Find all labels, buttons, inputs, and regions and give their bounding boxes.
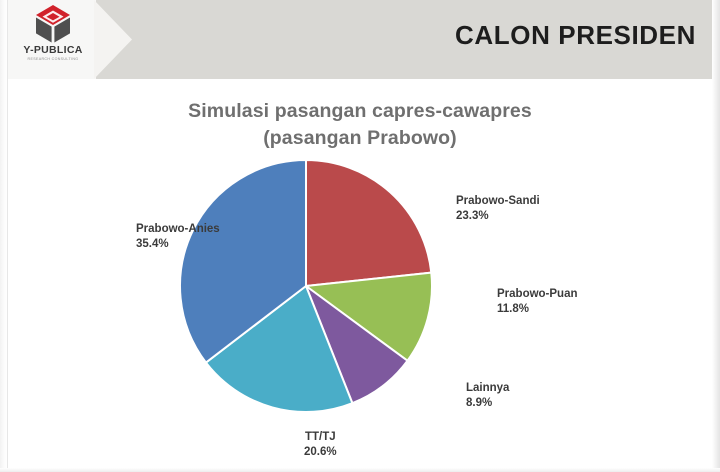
y-publica-logo: Y-PUBLICA RESEARCH CONSULTING xyxy=(16,4,90,76)
slide-canvas: Y-PUBLICA RESEARCH CONSULTING CALON PRES… xyxy=(0,0,720,472)
pie-slice-label: Lainnya8.9% xyxy=(466,381,509,411)
slide-header: Y-PUBLICA RESEARCH CONSULTING CALON PRES… xyxy=(0,0,720,82)
pie-chart-svg xyxy=(8,82,712,472)
pie-slice-label-name: Prabowo-Sandi xyxy=(456,195,540,207)
pie-slice[interactable] xyxy=(306,160,431,286)
pie-slice-label: Prabowo-Anies35.4% xyxy=(136,222,220,252)
page-edge-bottom xyxy=(0,468,720,472)
page-edge-right xyxy=(712,0,720,472)
cube-logo-icon xyxy=(32,4,74,44)
pie-slice-label-name: TT/TJ xyxy=(305,431,336,443)
pie-slice-label-value: 8.9% xyxy=(466,396,509,411)
pie-slice-label-value: 20.6% xyxy=(304,445,337,460)
pie-slice-label: TT/TJ20.6% xyxy=(304,430,337,460)
pie-slice-label-name: Lainnya xyxy=(466,382,509,394)
pie-slice-label-name: Prabowo-Anies xyxy=(136,223,220,235)
logo-tagline: RESEARCH CONSULTING xyxy=(16,57,90,62)
pie-slice-group xyxy=(180,160,432,412)
pie-chart: Prabowo-Sandi23.3%Prabowo-Puan11.8%Lainn… xyxy=(8,82,712,472)
pie-slice-label-value: 23.3% xyxy=(456,209,540,224)
chart-area: Simulasi pasangan capres-cawapres (pasan… xyxy=(8,82,712,472)
logo-wordmark: Y-PUBLICA xyxy=(16,45,90,56)
page-edge-left xyxy=(0,0,8,472)
pie-slice-label: Prabowo-Puan11.8% xyxy=(497,287,578,317)
pie-slice-label-name: Prabowo-Puan xyxy=(497,288,578,300)
page-title: CALON PRESIDEN xyxy=(455,20,696,51)
pie-slice-label-value: 11.8% xyxy=(497,302,578,317)
pie-slice-label-value: 35.4% xyxy=(136,237,220,252)
pie-slice-label: Prabowo-Sandi23.3% xyxy=(456,194,540,224)
